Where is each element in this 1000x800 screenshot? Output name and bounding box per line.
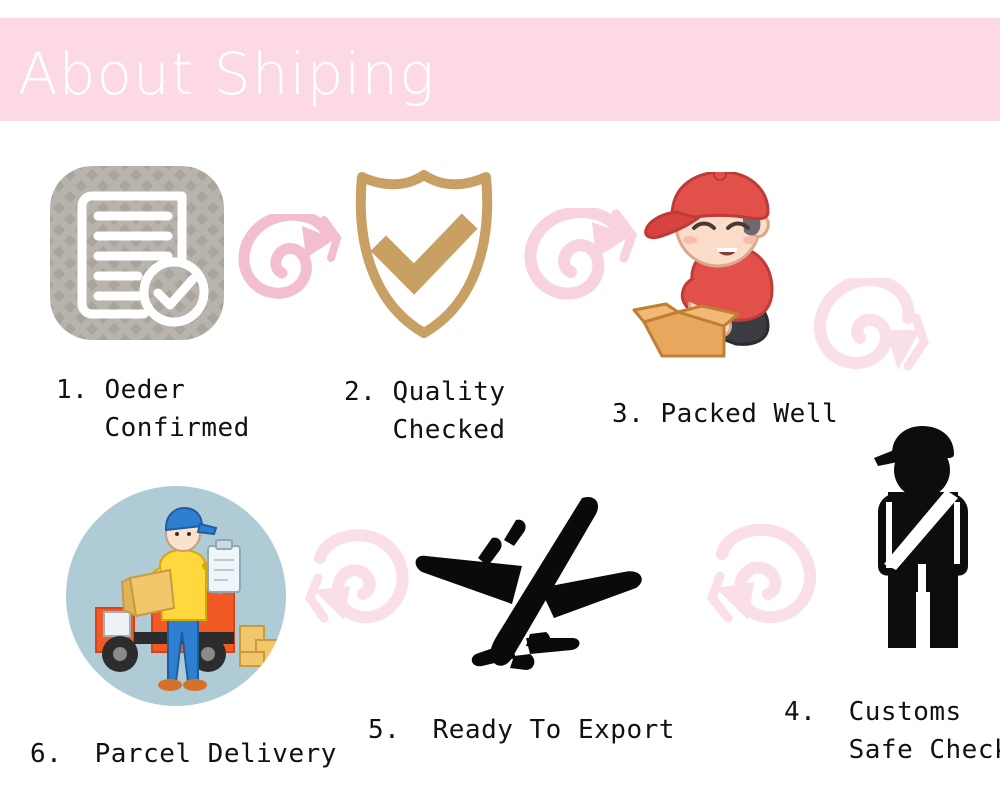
page-title: About Shiping [18,40,435,108]
step-label-parcel-delivery: 6. Parcel Delivery [30,736,337,774]
step-label-ready-to-export: 5. Ready To Export [368,712,675,750]
parcel-delivery-truck-icon [64,484,288,708]
arrow-step4-to-step5 [702,524,820,634]
arrow-step5-to-step6 [302,528,412,638]
step-label-customs-safe-check: 4. Customs Safe Check [784,694,1000,769]
worker-packing-box-icon [632,172,792,358]
order-document-icon [48,164,226,342]
quality-shield-check-icon [336,163,512,343]
step-label-packed-well: 3. Packed Well [612,396,838,434]
step-label-quality-checked: 2. Quality Checked [344,374,506,449]
step-label-order-confirmed: 1. Oeder Confirmed [56,372,250,447]
arrow-step3-to-step4 [812,278,940,388]
customs-officer-icon [862,424,984,650]
arrow-step1-to-step2 [236,214,346,306]
arrow-step2-to-step3 [522,208,640,308]
airplane-icon [404,492,670,678]
